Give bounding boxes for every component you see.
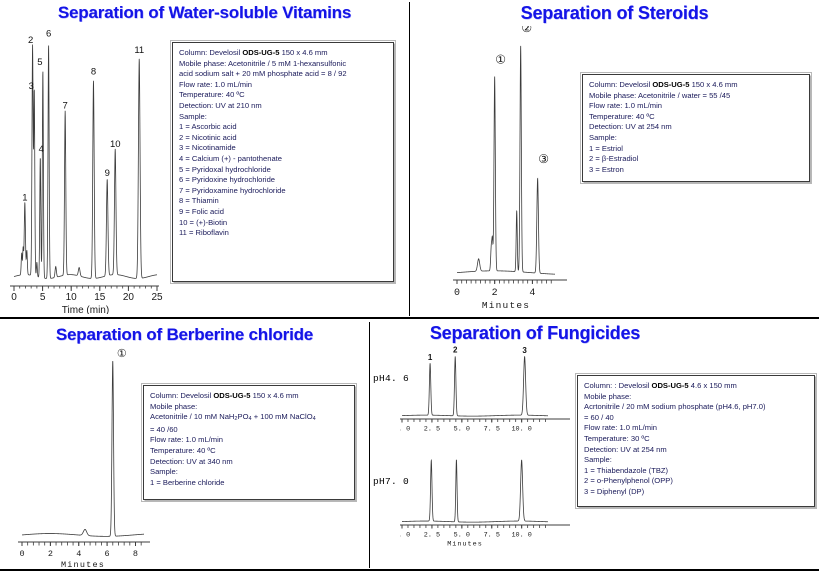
- infobox-berberine: Column: Develosil ODS-UG-5 150 x 4.6 mmM…: [143, 385, 355, 500]
- infobox-line: 9 = Folic acid: [179, 207, 387, 218]
- infobox-line: Detection: UV at 254 nm: [584, 445, 808, 456]
- axis-tick-label: 25: [151, 292, 163, 303]
- infobox-line: 4 = Calcium (+) - pantothenate: [179, 154, 387, 165]
- infobox-line: 1 = Ascorbic acid: [179, 122, 387, 133]
- infobox-line: Temperature: 40 ºC: [589, 112, 803, 123]
- panel-water-soluble-vitamins: Separation of Water-soluble Vitamins 051…: [0, 0, 409, 317]
- fungicides-ph46-svg: 0. 02. 55. 07. 510. 0123: [400, 344, 580, 440]
- infobox-steroids: Column: Develosil ODS-UG-5 150 x 4.6 mmM…: [582, 74, 810, 182]
- infobox-line: Column: Develosil ODS-UG-5 150 x 4.6 mm: [179, 48, 387, 59]
- axis-tick-label: 0: [454, 288, 460, 299]
- peak-label: 1: [22, 192, 27, 203]
- poster-root: Separation of Water-soluble Vitamins 051…: [0, 0, 819, 573]
- x-axis-label: Time (min): [62, 305, 109, 314]
- infobox-line: = 40 /60: [150, 425, 348, 436]
- chromatogram-trace: [14, 44, 157, 278]
- axis-tick-label: 0: [19, 549, 24, 559]
- axis-tick-label: 15: [94, 292, 106, 303]
- page-title-steroids: Separation of Steroids: [410, 3, 819, 24]
- infobox-line: Temperature: 30 ºC: [584, 434, 808, 445]
- fungicides-ph70-svg: 0. 02. 55. 07. 510. 0Minutes: [400, 446, 580, 556]
- fungicides-ph46-chromatogram: 0. 02. 55. 07. 510. 0123: [400, 344, 580, 440]
- axis-tick-label: 2. 5: [424, 426, 440, 434]
- axis-tick-label: 2: [48, 549, 53, 559]
- peak-label: 6: [46, 28, 51, 39]
- infobox-line: 2 = Nicotinic acid: [179, 133, 387, 144]
- peak-label: 5: [37, 57, 42, 68]
- infobox-line: 2 = β-Estradiol: [589, 154, 803, 165]
- infobox-line: Mobile phase:: [584, 392, 808, 403]
- infobox-line: Column: Develosil ODS-UG-5 150 x 4.6 mm: [150, 391, 348, 402]
- peak-label: ①: [117, 348, 127, 360]
- infobox-line: Flow rate: 1.0 mL/min: [150, 435, 348, 446]
- peak-label: 8: [91, 67, 96, 78]
- infobox-line: Column: : Develosil ODS-UG-5 4.6 x 150 m…: [584, 381, 808, 392]
- axis-tick-label: 5. 0: [454, 532, 470, 540]
- steroids-chromatogram: 024Minutes①②③: [435, 26, 585, 314]
- infobox-line: Mobile phase: Acetonitrile / water = 55 …: [589, 91, 803, 102]
- infobox-line: 3 = Estron: [589, 165, 803, 176]
- infobox-line: 1 = Estriol: [589, 144, 803, 155]
- infobox-line: Mobile phase:: [150, 402, 348, 413]
- infobox-line: 3 = Nicotinamide: [179, 143, 387, 154]
- page-title-vitamins: Separation of Water-soluble Vitamins: [0, 3, 409, 23]
- peak-label: ③: [538, 152, 549, 166]
- axis-tick-label: 0. 0: [400, 532, 410, 540]
- chromatogram-trace: [22, 361, 144, 536]
- infobox-line: 6 = Pyridoxine hydrochloride: [179, 175, 387, 186]
- peak-label: 9: [105, 168, 110, 179]
- vitamins-chromatogram-svg: 0510152025Time (min)1234567891011: [2, 22, 172, 314]
- infobox-line: Detection: UV at 210 nm: [179, 101, 387, 112]
- x-axis-label: Minutes: [482, 300, 530, 311]
- peak-label: ①: [495, 53, 506, 67]
- peak-label: 1: [428, 353, 433, 362]
- axis-tick-label: 10. 0: [511, 532, 531, 540]
- infobox-line: Flow rate: 1.0 mL/min: [179, 80, 387, 91]
- axis-tick-label: 7. 5: [484, 426, 500, 434]
- infobox-line: Sample:: [150, 467, 348, 478]
- peak-label: 4: [39, 144, 44, 155]
- peak-label: 10: [110, 139, 121, 150]
- chromatogram-trace: [402, 460, 548, 522]
- fungicides-ph70-chromatogram: 0. 02. 55. 07. 510. 0Minutes: [400, 446, 580, 556]
- bottom-border: [0, 569, 819, 571]
- peak-label: 7: [63, 100, 68, 111]
- infobox-line: 7 = Pyridoxamine hydrochloride: [179, 186, 387, 197]
- infobox-line: Temperature: 40 ºC: [150, 446, 348, 457]
- axis-tick-label: 6: [105, 549, 110, 559]
- infobox-line: Sample:: [589, 133, 803, 144]
- infobox-fungicides: Column: : Develosil ODS-UG-5 4.6 x 150 m…: [577, 375, 815, 507]
- chromatogram-trace: [402, 356, 548, 416]
- infobox-line: Flow rate: 1.0 mL/min: [589, 101, 803, 112]
- infobox-line: 10 = (+)-Biotin: [179, 218, 387, 229]
- panel-steroids: Separation of Steroids 024Minutes①②③ Col…: [410, 0, 819, 317]
- steroids-chromatogram-svg: 024Minutes①②③: [435, 26, 585, 314]
- x-axis-label: Minutes: [447, 541, 483, 549]
- infobox-line: Sample:: [584, 455, 808, 466]
- peak-label: 3: [29, 81, 34, 92]
- axis-tick-label: 5. 0: [454, 426, 470, 434]
- infobox-line: acid sodium salt + 20 mM phosphate acid …: [179, 69, 387, 80]
- axis-tick-label: 2: [492, 288, 498, 299]
- infobox-line: Detection: UV at 340 nm: [150, 457, 348, 468]
- panel-berberine-chloride: Separation of Berberine chloride 02468Mi…: [0, 318, 369, 569]
- axis-tick-label: 4: [529, 288, 535, 299]
- vitamins-chromatogram: 0510152025Time (min)1234567891011: [2, 22, 172, 314]
- infobox-line: Flow rate: 1.0 mL/min: [584, 423, 808, 434]
- peak-label: ②: [521, 26, 532, 35]
- infobox-line: Column: Develosil ODS-UG-5 150 x 4.6 mm: [589, 80, 803, 91]
- peak-label: 2: [28, 35, 33, 46]
- infobox-line: 2 = o-Phenylphenol (OPP): [584, 476, 808, 487]
- infobox-line: 5 = Pyridoxal hydrochloride: [179, 165, 387, 176]
- axis-tick-label: 20: [123, 292, 135, 303]
- infobox-line: = 60 / 40: [584, 413, 808, 424]
- infobox-line: 3 = Diphenyl (DP): [584, 487, 808, 498]
- axis-tick-label: 0. 0: [400, 426, 410, 434]
- infobox-line: 11 = Riboflavin: [179, 228, 387, 239]
- axis-tick-label: 5: [40, 292, 46, 303]
- infobox-line: Detection: UV at 254 nm: [589, 122, 803, 133]
- peak-label: 2: [453, 345, 458, 354]
- axis-tick-label: 10: [66, 292, 78, 303]
- page-title-fungicides: Separation of Fungicides: [370, 323, 700, 344]
- axis-tick-label: 2. 5: [424, 532, 440, 540]
- axis-tick-label: 0: [11, 292, 17, 303]
- infobox-line: Mobile phase: Acetonitrile / 5 mM 1-hexa…: [179, 59, 387, 70]
- page-title-berberine: Separation of Berberine chloride: [0, 325, 369, 345]
- x-axis-label: Minutes: [61, 560, 105, 568]
- panel-fungicides: Separation of Fungicides pH4. 6 pH7. 0 0…: [370, 318, 819, 569]
- axis-tick-label: 8: [133, 549, 138, 559]
- peak-label: 11: [134, 45, 144, 56]
- axis-tick-label: 4: [76, 549, 81, 559]
- peak-label: 3: [522, 346, 527, 355]
- infobox-line: Acrtonitrile / 20 mM sodium phosphate (p…: [584, 402, 808, 413]
- infobox-line: Sample:: [179, 112, 387, 123]
- axis-tick-label: 7. 5: [484, 532, 500, 540]
- infobox-line: Temperature: 40 ºC: [179, 90, 387, 101]
- infobox-vitamins: Column: Develosil ODS-UG-5 150 x 4.6 mmM…: [172, 42, 394, 282]
- axis-tick-label: 10. 0: [511, 426, 531, 434]
- infobox-line: 1 = Berberine chloride: [150, 478, 348, 489]
- infobox-line: 8 = Thiamin: [179, 196, 387, 207]
- infobox-line: Acetonitrile / 10 mM NaH2PO4 + 100 mM Na…: [150, 412, 348, 425]
- infobox-line: 1 = Thiabendazole (TBZ): [584, 466, 808, 477]
